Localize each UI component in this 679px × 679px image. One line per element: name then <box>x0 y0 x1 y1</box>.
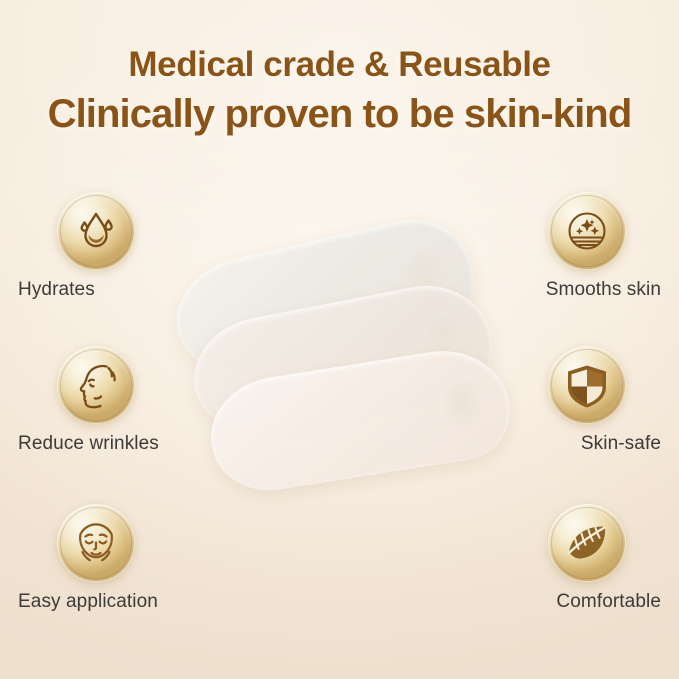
face-profile-icon <box>57 346 135 424</box>
feature-smooths-skin: Smooths skin <box>411 192 661 301</box>
water-drop-icon <box>57 192 135 270</box>
feature-label: Comfortable <box>411 591 661 613</box>
serene-face-icon <box>57 504 135 582</box>
leaf-icon <box>548 504 626 582</box>
feature-hydrates: Hydrates <box>18 192 268 301</box>
feature-label: Skin-safe <box>411 433 661 455</box>
feature-label: Easy application <box>18 591 268 613</box>
feature-comfortable: Comfortable <box>411 504 661 613</box>
feature-label: Reduce wrinkles <box>18 433 268 455</box>
feature-skin-safe: Skin-safe <box>411 346 661 455</box>
product-infographic: Medical crade & Reusable Clinically prov… <box>0 0 679 679</box>
feature-reduce-wrinkles: Reduce wrinkles <box>18 346 268 455</box>
headline-line-2: Clinically proven to be skin-kind <box>0 88 679 140</box>
headline-line-1: Medical crade & Reusable <box>0 42 679 88</box>
feature-easy-application: Easy application <box>18 504 268 613</box>
feature-label: Hydrates <box>18 279 268 301</box>
page-title: Medical crade & Reusable Clinically prov… <box>0 42 679 140</box>
sparkle-circle-icon <box>548 192 626 270</box>
feature-label: Smooths skin <box>411 279 661 301</box>
shield-icon <box>548 346 626 424</box>
